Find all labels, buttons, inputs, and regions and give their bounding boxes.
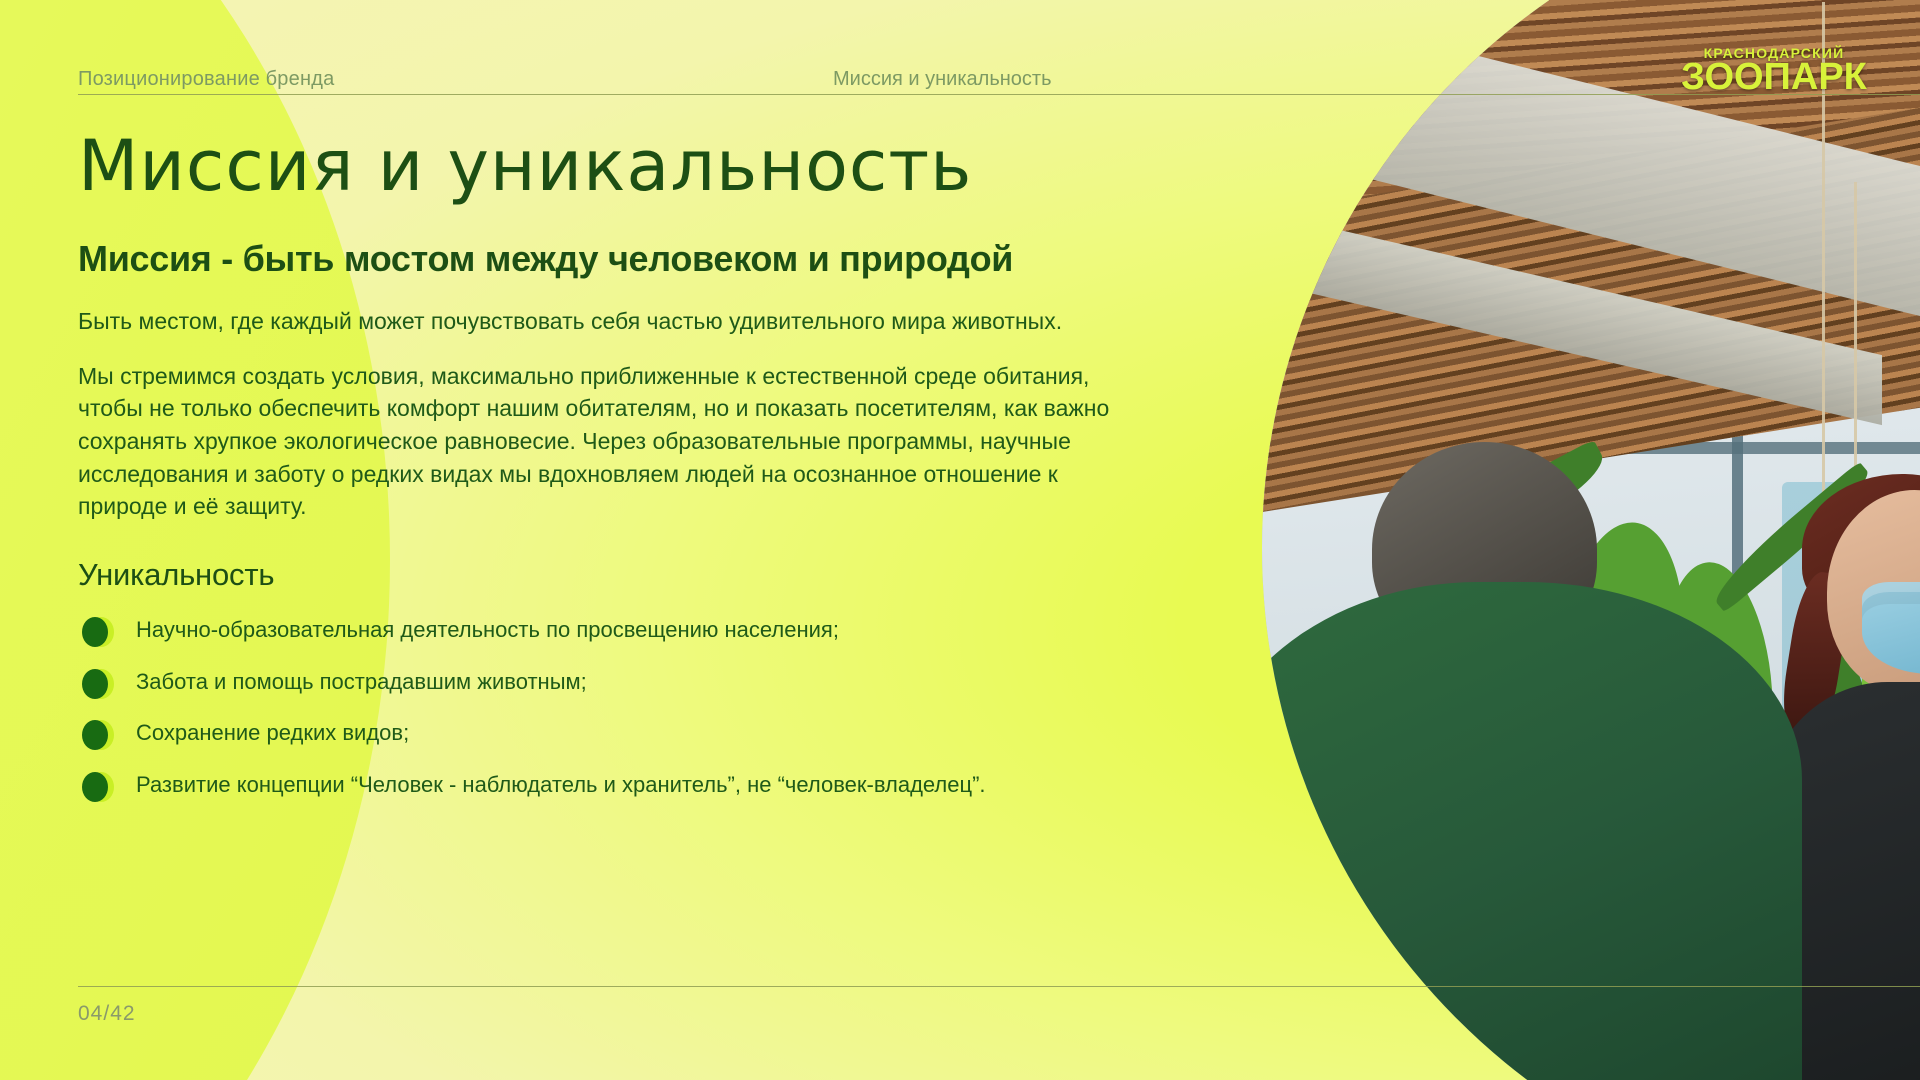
list-item-label: Забота и помощь пострадавшим животным; [136,669,587,694]
slide-header: Позиционирование бренда Миссия и уникаль… [78,64,1920,94]
bullet-dot-icon [82,720,110,750]
page-title: Миссия и уникальность [78,130,1138,204]
page-number: 04/42 [78,1002,136,1026]
header-section-label: Позиционирование бренда [78,68,334,91]
mission-paragraph-1: Быть местом, где каждый может почувствов… [78,305,1108,338]
list-item: Сохранение редких видов; [78,718,1138,748]
list-item: Забота и помощь пострадавшим животным; [78,667,1138,697]
list-item-label: Развитие концепции “Человек - наблюдател… [136,772,986,797]
list-item-label: Научно-образовательная деятельность по п… [136,617,839,642]
keeper-green-polo: rs Welcome [1262,582,1802,1080]
logo-main-line: ЗООПАРК [1664,58,1884,96]
mission-subtitle: Миссия - быть мостом между человеком и п… [78,238,1138,279]
slide: rs Welcome [0,0,1920,1080]
footer-divider [78,986,1920,987]
mission-paragraph-2: Мы стремимся создать условия, максимальн… [78,360,1123,523]
header-slide-label: Миссия и уникальность [833,68,1052,91]
list-item: Научно-образовательная деятельность по п… [78,615,1138,645]
bullet-dot-icon [82,669,110,699]
slide-content: Миссия и уникальность Миссия - быть мост… [78,130,1138,822]
header-divider [78,94,1920,95]
photo-scene: rs Welcome [1262,0,1920,1080]
bullet-dot-icon [82,617,110,647]
uniqueness-list: Научно-образовательная деятельность по п… [78,615,1138,800]
zoo-logo: КРАСНОДАРСКИЙ ЗООПАРК [1664,46,1884,96]
list-item: Развитие концепции “Человек - наблюдател… [78,770,1138,800]
list-item-label: Сохранение редких видов; [136,720,409,745]
uniqueness-heading: Уникальность [78,557,1138,593]
hero-photo: rs Welcome [1262,0,1920,1080]
bullet-dot-icon [82,772,110,802]
